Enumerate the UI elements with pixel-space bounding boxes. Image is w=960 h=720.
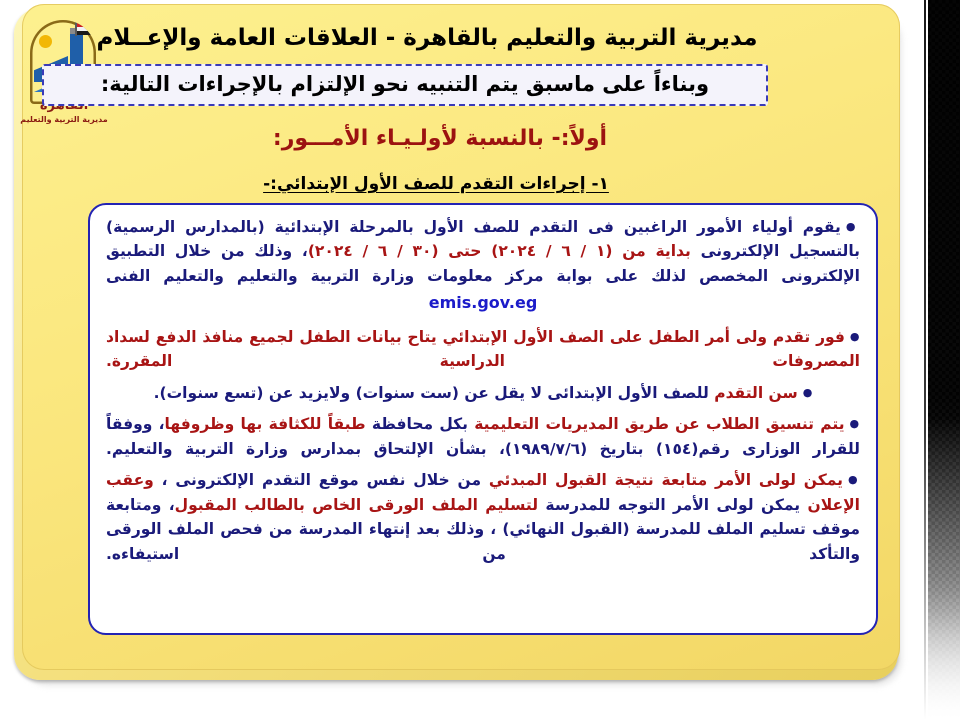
logo-subtitle-text: مديرية التربية والتعليم	[16, 115, 112, 124]
bullet-age-requirement-segment: للصف الأول الإبتدائى لا يقل عن (ست سنوات…	[154, 384, 709, 402]
section-heading-sub: ١- إجراءات التقدم للصف الأول الإبتدائي:-	[22, 174, 850, 194]
bullet-results-followup-segment: لتسليم الملف الورقى الخاص بالطالب المقبو…	[175, 496, 538, 514]
bullet-registration: يقوم أولياء الأمور الراغبين فى التقدم لل…	[106, 215, 860, 288]
bullet-registration-segment: بداية من (١ / ٦ / ٢٠٢٤) حتى (٣٠ / ٦ / ٢٠…	[308, 242, 691, 260]
bullet-coordination-segment: طبقاً للكثافة بها وظروفها	[165, 415, 366, 433]
bullet-payment-channels-segment: فور تقدم ولى أمر الطفل على الصف الأول ال…	[106, 328, 860, 370]
section-heading-first: أولاً:- بالنسبة لأولـيـاء الأمـــور:	[22, 126, 858, 151]
slide-canvas: مديرية التربية والتعليم بالقاهرة - العلا…	[0, 0, 960, 720]
bullet-coordination-segment: بكل محافظة	[366, 415, 468, 433]
flag-stripe-black-icon	[77, 31, 91, 35]
sun-icon	[39, 35, 52, 48]
bullet-age-requirement-segment: سن التقدم	[709, 384, 798, 402]
bullet-coordination: يتم تنسيق الطلاب عن طريق المديريات التعل…	[106, 412, 860, 461]
bullet-results-followup-segment: يمكن لولى الأمر التوجه للمدرسة	[538, 496, 800, 514]
content-panel: مديرية التربية والتعليم بالقاهرة - العلا…	[22, 4, 900, 670]
bullet-results-followup-segment: من خلال نفس موقع التقدم الإلكترونى ،	[154, 471, 481, 489]
registration-portal-link[interactable]: emis.gov.eg	[106, 290, 860, 315]
notice-callout-text: وبناءاً على ماسبق يتم التنبيه نحو الإلتز…	[58, 72, 752, 96]
bullet-results-followup-segment: يمكن لولى الأمر متابعة نتيجة القبول المب…	[481, 471, 843, 489]
bullet-age-requirement: سن التقدم للصف الأول الإبتدائى لا يقل عن…	[106, 381, 860, 405]
bullet-registration-segment: بالتسجيل الإلكترونى	[691, 242, 860, 260]
bullet-registration-segment: (بالمدارس الرسمية)	[106, 218, 265, 236]
bullet-results-followup: يمكن لولى الأمر متابعة نتيجة القبول المب…	[106, 468, 860, 566]
notice-callout-box: وبناءاً على ماسبق يتم التنبيه نحو الإلتز…	[42, 64, 768, 106]
edge-divider-rule	[924, 0, 926, 720]
bullet-payment-channels: فور تقدم ولى أمر الطفل على الصف الأول ال…	[106, 325, 860, 374]
procedures-content-card: يقوم أولياء الأمور الراغبين فى التقدم لل…	[88, 203, 878, 635]
bullet-coordination-segment: يتم تنسيق الطلاب عن طريق المديريات التعل…	[468, 415, 845, 433]
halftone-fade-overlay	[928, 0, 960, 720]
header-row: مديرية التربية والتعليم بالقاهرة - العلا…	[22, 14, 900, 62]
bullet-registration-segment: يقوم أولياء الأمور الراغبين فى التقدم لل…	[265, 218, 841, 236]
page-title: مديرية التربية والتعليم بالقاهرة - العلا…	[22, 25, 900, 51]
